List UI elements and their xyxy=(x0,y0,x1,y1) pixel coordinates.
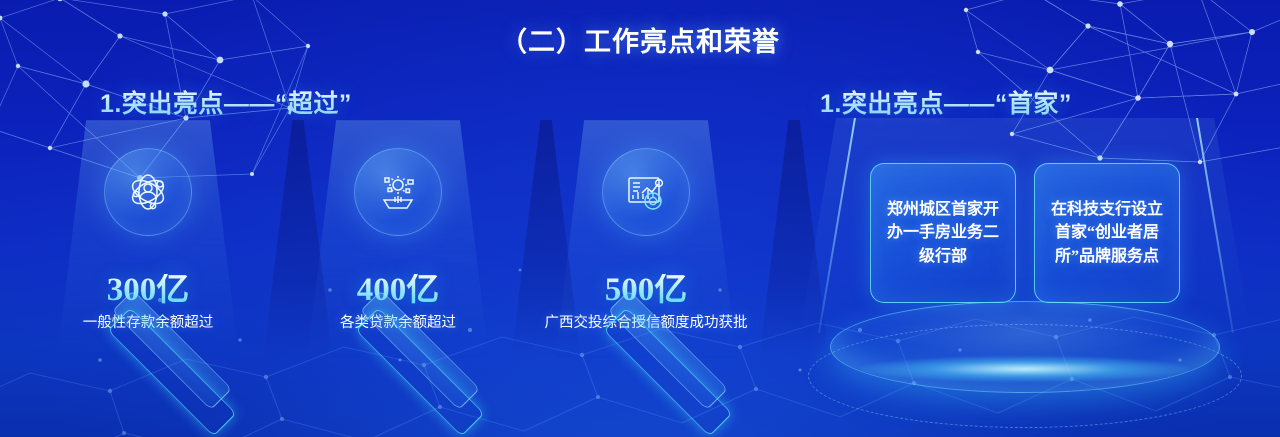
chart-dashboard-icon xyxy=(620,166,672,218)
stat-platform xyxy=(320,330,520,408)
stat-icon-badge xyxy=(602,148,690,236)
section-heading-right: 1.突出亮点——“首家” xyxy=(820,84,1072,120)
highlight-cards: 郑州城区首家开办一手房业务二级行部 在科技支行设立首家“创业者居所”品牌服务点 xyxy=(870,163,1180,303)
stat-icon-badge xyxy=(104,148,192,236)
laptop-gear-data-icon xyxy=(372,166,424,218)
stat-item[interactable]: 400亿 各类贷款余额超过 xyxy=(273,120,523,334)
stat-value: 300亿 xyxy=(23,274,273,307)
section-heading-left: 1.突出亮点——“超过” xyxy=(100,84,352,120)
slide-stage: （二）工作亮点和荣誉 1.突出亮点——“超过” xyxy=(0,0,1280,437)
highlight-panel: 郑州城区首家开办一手房业务二级行部 在科技支行设立首家“创业者居所”品牌服务点 xyxy=(800,118,1250,418)
stat-item[interactable]: 300亿 一般性存款余额超过 xyxy=(23,120,273,334)
highlight-card-text: 郑州城区首家开办一手房业务二级行部 xyxy=(881,198,1005,268)
stat-icon-badge xyxy=(354,148,442,236)
stat-value: 500亿 xyxy=(521,274,771,307)
stat-item[interactable]: 500亿 广西交投综合授信额度成功获批 xyxy=(521,120,771,334)
highlight-card[interactable]: 在科技支行设立首家“创业者居所”品牌服务点 xyxy=(1034,163,1180,303)
highlight-card-text: 在科技支行设立首家“创业者居所”品牌服务点 xyxy=(1045,198,1169,268)
stat-value: 400亿 xyxy=(273,274,523,307)
platform-glow xyxy=(860,356,1190,382)
highlight-card[interactable]: 郑州城区首家开办一手房业务二级行部 xyxy=(870,163,1016,303)
network-person-icon xyxy=(122,166,174,218)
slide-title: （二）工作亮点和荣誉 xyxy=(0,20,1280,59)
stat-platform xyxy=(72,330,272,408)
stat-platform xyxy=(568,330,768,408)
